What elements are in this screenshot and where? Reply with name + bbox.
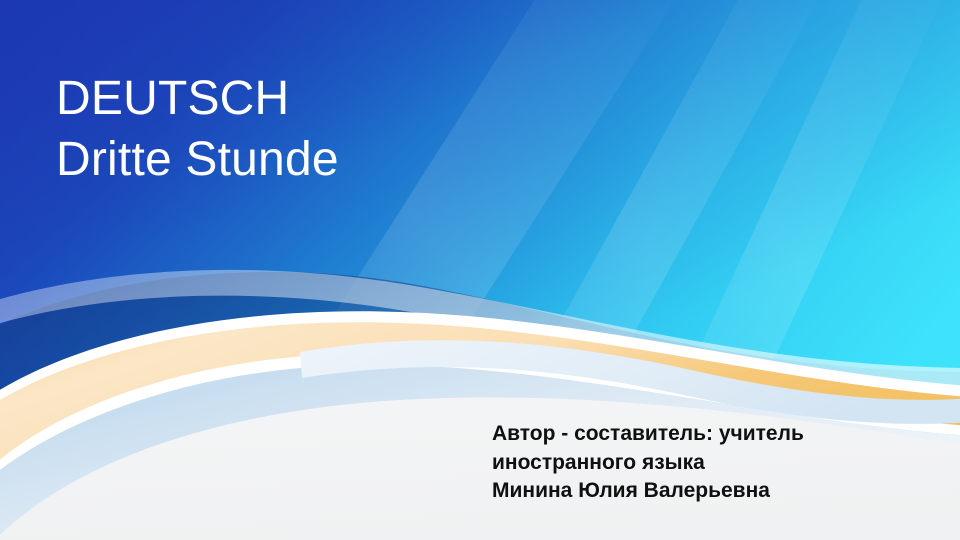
author-line-3: Минина Юлия Валерьевна — [492, 477, 952, 506]
author-line-1: Автор - составитель: учитель — [492, 420, 952, 449]
title-line-2: Dritte Stunde — [56, 129, 656, 190]
title-line-1: DEUTSCH — [56, 68, 656, 129]
author-credit: Автор - составитель: учитель иностранног… — [492, 420, 952, 506]
slide-title: DEUTSCH Dritte Stunde — [56, 68, 656, 191]
title-slide: DEUTSCH Dritte Stunde Автор - составител… — [0, 0, 960, 540]
author-line-2: иностранного языка — [492, 449, 952, 478]
